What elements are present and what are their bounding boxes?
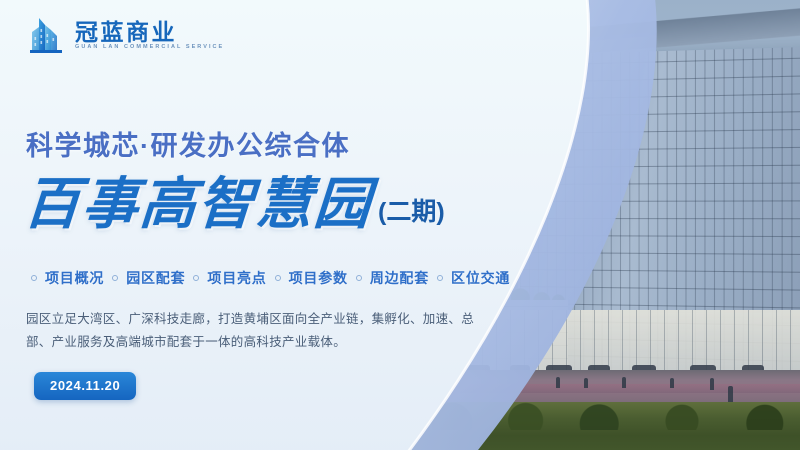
section-nav: 项目概况 园区配套 项目亮点 项目参数 周边配套 区位交通 xyxy=(26,268,513,288)
brand-logo[interactable]: 冠蓝商业 GUAN LAN COMMERCIAL SERVICE xyxy=(26,14,224,56)
hero-subtitle: 科学城芯·研发办公综合体 xyxy=(26,124,350,163)
project-description: 园区立足大湾区、广深科技走廊，打造黄埔区面向全产业链，集孵化、加速、总部、产业服… xyxy=(26,308,476,354)
nav-item-park-facilities[interactable]: 园区配套 xyxy=(123,268,188,288)
brand-name-en: GUAN LAN COMMERCIAL SERVICE xyxy=(75,45,224,51)
nav-item-location-transport[interactable]: 区位交通 xyxy=(448,268,513,288)
circle-ring-icon xyxy=(275,275,281,281)
circle-ring-icon xyxy=(112,275,118,281)
nav-item-project-overview[interactable]: 项目概况 xyxy=(42,268,107,288)
nav-item-surrounding-facilities[interactable]: 周边配套 xyxy=(367,268,432,288)
nav-item-project-parameters[interactable]: 项目参数 xyxy=(286,268,351,288)
circle-ring-icon xyxy=(31,275,37,281)
nav-item-project-highlights[interactable]: 项目亮点 xyxy=(204,268,269,288)
circle-ring-icon xyxy=(437,275,443,281)
circle-ring-icon xyxy=(356,275,362,281)
grass-foreground xyxy=(370,402,800,450)
presentation-cover-slide: 冠蓝商业 GUAN LAN COMMERCIAL SERVICE 科学城芯·研发… xyxy=(0,0,800,450)
circle-ring-icon xyxy=(193,275,199,281)
hero-phase-label: (二期) xyxy=(378,192,445,228)
brand-name-cn: 冠蓝商业 xyxy=(75,20,224,44)
building-skyline-icon xyxy=(26,14,66,56)
hero-title-row: 百事高智慧园 (二期) xyxy=(24,176,445,232)
date-badge: 2024.11.20 xyxy=(34,372,136,400)
page-title: 百事高智慧园 xyxy=(22,176,374,232)
